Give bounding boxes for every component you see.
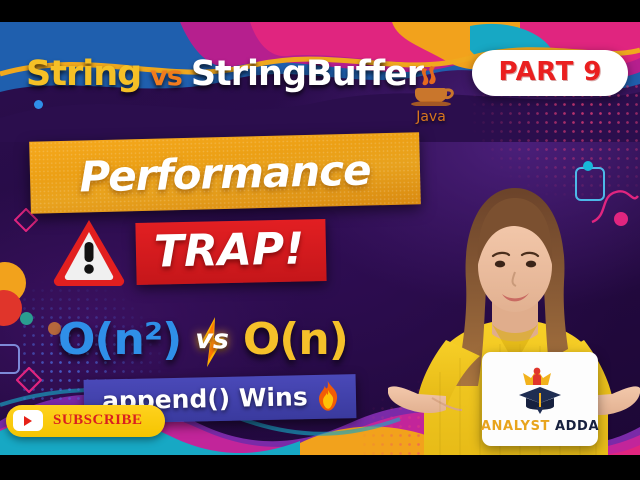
performance-banner: Performance xyxy=(29,132,421,214)
part-badge[interactable]: PART 9 xyxy=(472,50,628,96)
channel-logo-card: ANALYST ADDA xyxy=(482,352,598,446)
title-string: String xyxy=(26,54,141,94)
deco-diamond-left xyxy=(16,367,42,393)
trap-banner: TRAP! xyxy=(135,219,327,285)
java-coffee-cup-icon xyxy=(405,62,457,106)
graduation-cap-crown-icon xyxy=(510,365,570,417)
fire-icon xyxy=(315,380,340,410)
title-stringbuffer: StringBuffer xyxy=(191,54,423,94)
trap-row: TRAP! xyxy=(52,218,326,286)
complexity-vs-label: vs xyxy=(195,324,229,355)
java-logo: Java xyxy=(404,62,458,125)
logo-name-adda: ADDA xyxy=(555,419,599,434)
youtube-play-icon xyxy=(13,410,43,431)
part-badge-label: PART 9 xyxy=(498,57,602,87)
complexity-right: O(n) xyxy=(243,314,348,365)
deco-dot-square-top xyxy=(583,161,593,171)
java-label: Java xyxy=(404,109,458,125)
title-row: String vs StringBuffer xyxy=(26,54,423,94)
deco-circle-blue-left xyxy=(34,100,43,109)
deco-circle-teal-small xyxy=(20,312,33,325)
subscribe-button[interactable]: SUBSCRIBE xyxy=(6,405,165,437)
performance-label: Performance xyxy=(79,145,371,201)
complexity-left: O(n²) xyxy=(58,314,181,365)
youtube-thumbnail: String vs StringBuffer Java PART 9 Perfo… xyxy=(0,0,640,480)
complexity-vs: vs xyxy=(191,324,233,355)
trap-label: TRAP! xyxy=(153,223,304,277)
logo-name-analyst: ANALYST xyxy=(481,419,550,434)
subscribe-label: SUBSCRIBE xyxy=(53,412,143,429)
title-vs: vs xyxy=(150,61,182,92)
complexity-row: O(n²) vs O(n) xyxy=(58,314,348,365)
warning-triangle-icon xyxy=(52,218,126,286)
thumbnail-artwork: String vs StringBuffer Java PART 9 Perfo… xyxy=(0,22,640,455)
